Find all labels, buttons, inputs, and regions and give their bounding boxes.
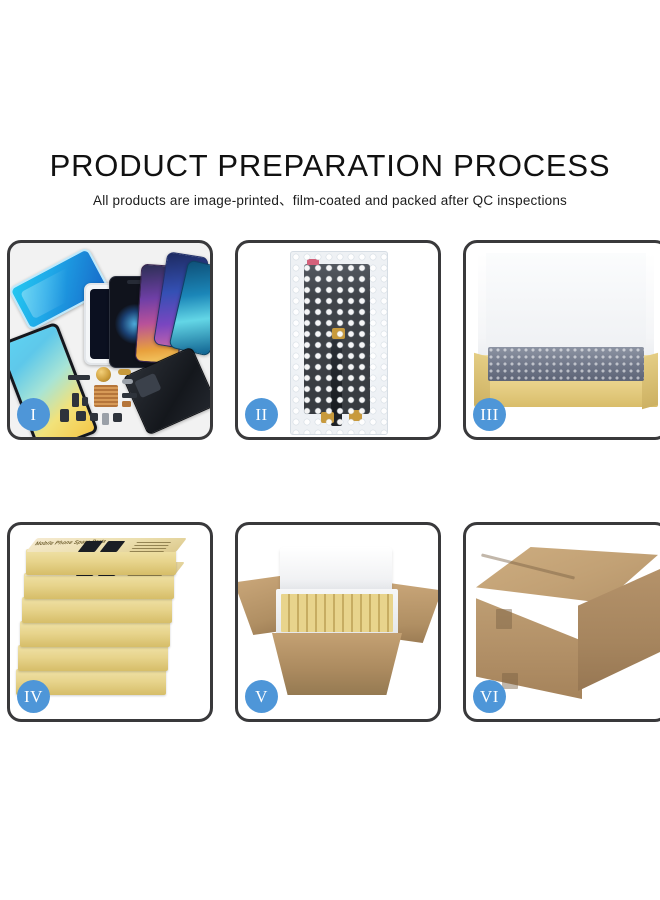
gray-foam-padding [488, 347, 644, 381]
step-panel-5[interactable]: V [235, 522, 441, 722]
foam-box-lid [280, 547, 392, 593]
part-ic-chip [113, 413, 122, 422]
part-speaker [90, 413, 98, 421]
carton-front-panel [272, 633, 402, 695]
part-camera-module [76, 411, 86, 421]
process-steps-grid: I II III [7, 240, 653, 722]
page-subtitle: All products are image-printed、film-coat… [0, 181, 660, 208]
part-copper-clip [122, 401, 131, 407]
part-sim-tray [102, 413, 109, 425]
carton-seam-upper [496, 609, 512, 629]
step-panel-1[interactable]: I [7, 240, 213, 440]
part-antenna-strip [122, 393, 137, 398]
part-contact-grid [94, 385, 118, 407]
box-wall-right [642, 353, 658, 410]
stacked-box-1: Mobile Phone Spare Parts [26, 549, 176, 575]
stacked-box-2: Mobile Phone Spare Parts [24, 573, 174, 599]
step-badge-4: IV [17, 680, 50, 713]
part-button-flex [60, 409, 69, 422]
step-panel-3[interactable]: III [463, 240, 660, 440]
yellow-boxes-row [281, 594, 393, 632]
carton-interior [276, 589, 398, 637]
stacked-box-4 [20, 621, 170, 647]
step-badge-1: I [17, 398, 50, 431]
part-coin-vibrator [96, 367, 111, 382]
bubble-texture [291, 252, 387, 434]
part-bracket-1 [72, 393, 79, 407]
step-panel-2[interactable]: II [235, 240, 441, 440]
step-badge-2: II [245, 398, 278, 431]
stacked-box-5 [18, 645, 168, 671]
step-badge-6: VI [473, 680, 506, 713]
part-bracket-2 [82, 397, 88, 406]
part-flex-strip [68, 375, 90, 380]
step-panel-4[interactable]: Mobile Phone Spare Parts Mobile Phone Sp… [7, 522, 213, 722]
step-badge-5: V [245, 680, 278, 713]
bubble-wrap-package [290, 251, 388, 435]
stacked-box-3 [22, 597, 172, 623]
step-panel-6[interactable]: VI [463, 522, 660, 722]
part-silver-ring [122, 379, 133, 384]
part-gold-connector [118, 369, 131, 375]
step-badge-3: III [473, 398, 506, 431]
page-header: PRODUCT PREPARATION PROCESS All products… [0, 0, 660, 208]
carton-seam-lower [502, 673, 518, 689]
page-title: PRODUCT PREPARATION PROCESS [0, 0, 660, 181]
